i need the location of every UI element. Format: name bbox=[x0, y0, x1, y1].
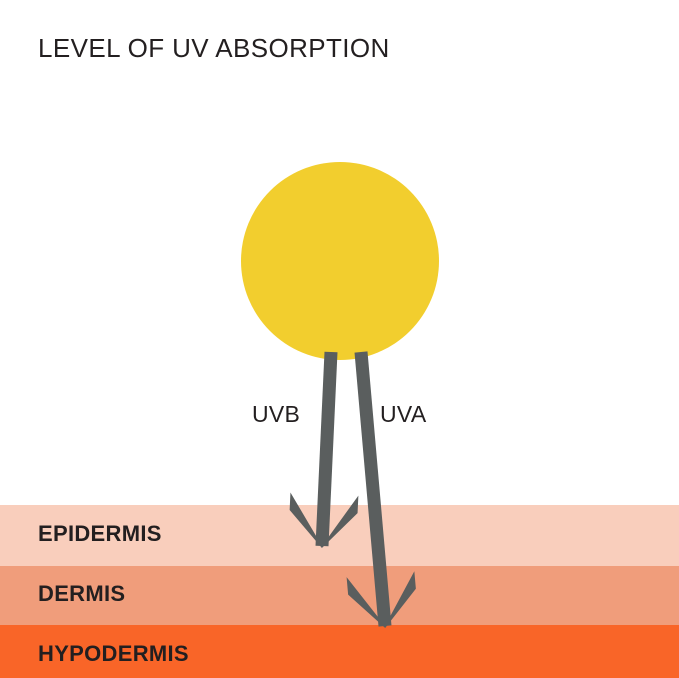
skin-layer-label-epidermis: EPIDERMIS bbox=[38, 521, 162, 546]
sun-icon bbox=[241, 162, 439, 360]
skin-layer-label-hypodermis: HYPODERMIS bbox=[38, 641, 189, 666]
page-title: LEVEL OF UV ABSORPTION bbox=[38, 33, 390, 63]
uv-absorption-infographic: LEVEL OF UV ABSORPTION UVB UVA EPIDERMIS… bbox=[0, 0, 679, 678]
uv-absorption-diagram: LEVEL OF UV ABSORPTION UVB UVA EPIDERMIS… bbox=[0, 0, 679, 678]
uvb-label: UVB bbox=[252, 401, 300, 427]
skin-layer-label-dermis: DERMIS bbox=[38, 581, 125, 606]
uva-label: UVA bbox=[380, 401, 427, 427]
